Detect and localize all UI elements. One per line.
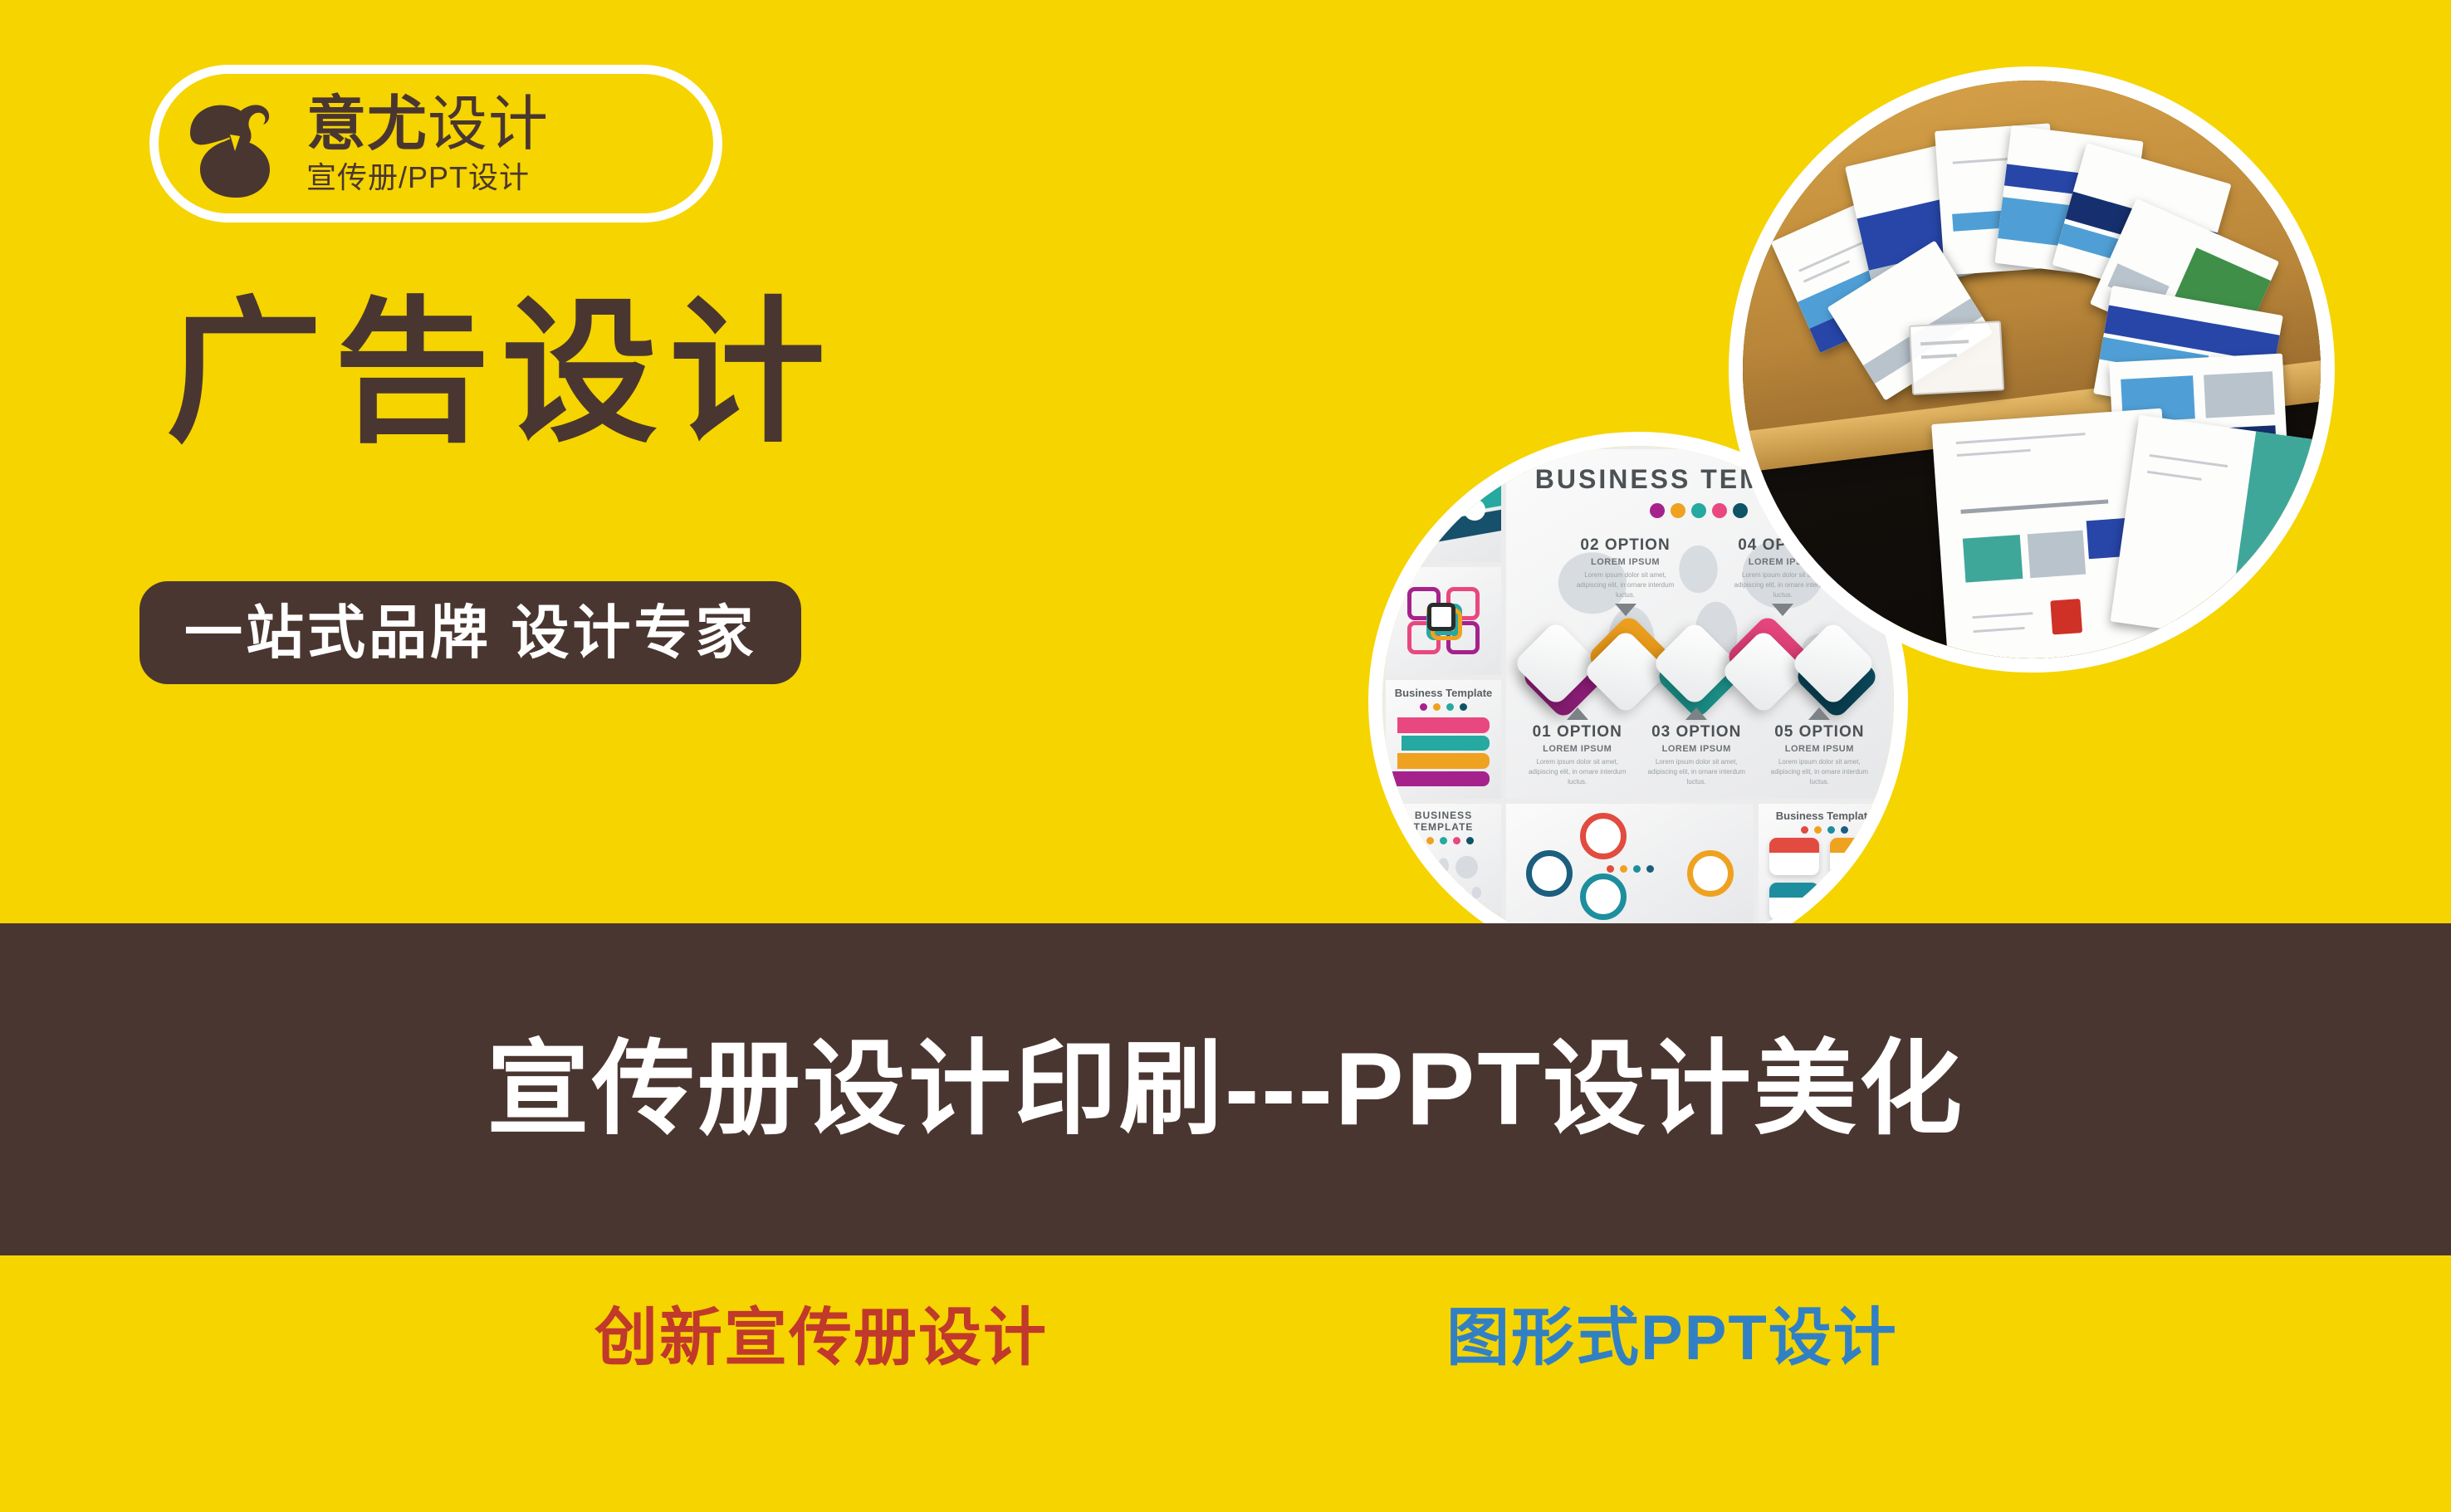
- footer-label-ppt: 图形式PPT设计: [1446, 1307, 1898, 1370]
- footer-label-brochure: 创新宣传册设计: [594, 1307, 1048, 1370]
- business-card-holder: [1909, 321, 2005, 394]
- advertising-banner: 意尤设计 宣传册/PPT设计 广告设计 一站式品牌 设计专家: [0, 0, 2451, 1512]
- tagline-badge: 一站式品牌 设计专家: [139, 581, 801, 684]
- tagline-text: 一站式品牌 设计专家: [184, 604, 756, 662]
- option-03-label: 03 OPTION LOREM IPSUM Lorem ipsum dolor …: [1645, 704, 1749, 787]
- option-01-label: 01 OPTION LOREM IPSUM Lorem ipsum dolor …: [1525, 704, 1629, 787]
- printed-brochures-photo: [1729, 66, 2335, 673]
- brand-subtitle: 宣传册/PPT设计: [306, 163, 549, 193]
- red-seal-stamp: [2050, 599, 2082, 634]
- option-02-label: 02 OPTION LOREM IPSUM Lorem ipsum dolor …: [1572, 536, 1680, 619]
- thumb-bottom-label: BUSINESS TEMPLATE: [1386, 810, 1501, 833]
- band-headline: 宣传册设计印刷---PPT设计美化: [0, 923, 2451, 1255]
- brand-name: 意尤设计: [306, 95, 549, 154]
- thumb-label: Business Template: [1386, 687, 1501, 699]
- slide-thumb-ribbon: [1386, 449, 1501, 562]
- option-05-label: 05 OPTION LOREM IPSUM Lorem ipsum dolor …: [1768, 704, 1871, 787]
- headline-band: 宣传册设计印刷---PPT设计美化: [0, 923, 2451, 1255]
- slide-thumb-pyramid: Business Template: [1386, 680, 1501, 799]
- page-title: 广告设计: [166, 295, 837, 451]
- footer-strip: 创新宣传册设计 图形式PPT设计: [0, 1255, 2451, 1512]
- bird-leaf-logo-icon: [170, 81, 295, 206]
- slide-thumb-matrix: [1386, 567, 1501, 675]
- slide-thumb-circles: [1506, 804, 1754, 927]
- slide-thumb-steps: Business Template: [1759, 804, 1891, 927]
- brand-logo-lockup[interactable]: 意尤设计 宣传册/PPT设计: [149, 65, 722, 223]
- slide-thumb-map: BUSINESS TEMPLATE: [1386, 804, 1501, 927]
